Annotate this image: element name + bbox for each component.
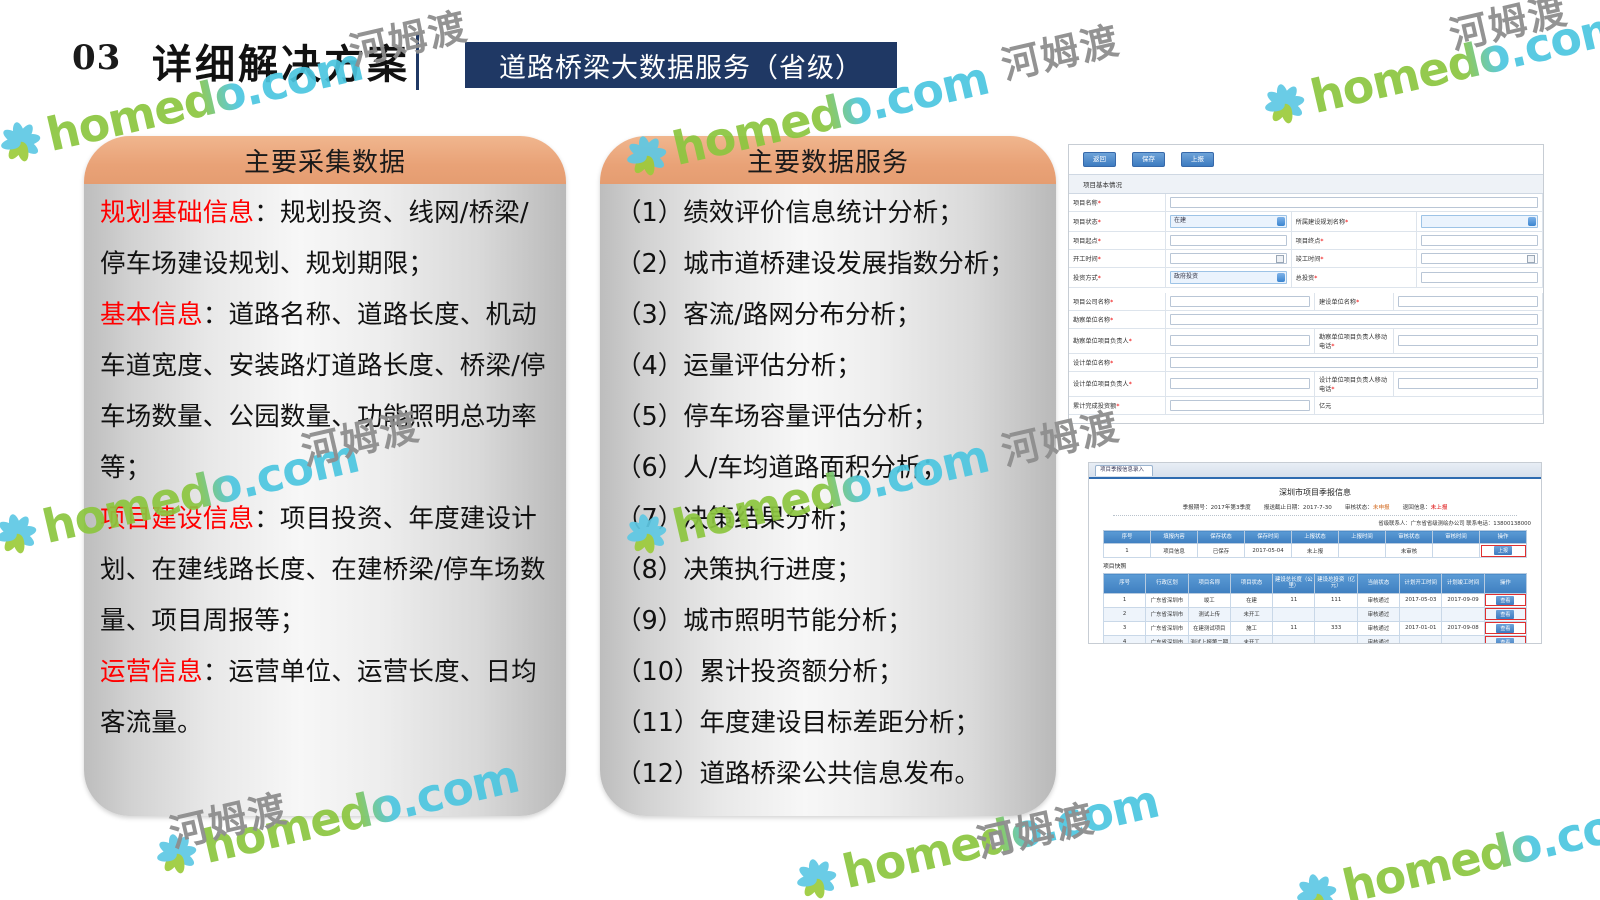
report-tabbar: 项目季报信息录入 (1089, 463, 1541, 479)
row-action-cell[interactable]: 查看 (1484, 621, 1526, 635)
collect-paragraph: 项目建设信息：项目投资、年度建设计划、在建线路长度、在建桥梁/停车场数量、项目周… (100, 494, 550, 647)
table-cell: 在建测试项目 (1188, 621, 1230, 635)
form-row: 项目起点*项目终点* (1069, 231, 1543, 249)
collect-paragraph: 规划基础信息：规划投资、线网/桥梁/停车场建设规划、规划期限； (100, 188, 550, 290)
column-header: 计划开工时间 (1400, 574, 1442, 593)
text-field[interactable] (1170, 314, 1538, 325)
report-meta-item: 季报期号：2017年第3季度 (1183, 503, 1251, 511)
report-meta-value: 2017-7-30 (1303, 505, 1332, 511)
page-title: 详细解决方案 (152, 32, 410, 90)
text-field[interactable] (1398, 335, 1538, 346)
watermark-homedo: homedo.com (1289, 789, 1600, 900)
tab-report-entry[interactable]: 项目季报信息录入 (1095, 465, 1153, 476)
table-cell: 审核通过 (1357, 607, 1399, 621)
panel-main-collected-data: 主要采集数据 规划基础信息：规划投资、线网/桥梁/停车场建设规划、规划期限； 基… (84, 136, 566, 816)
form-row: 勘察单位项目负责人*勘察单位项目负责人移动电话* (1069, 328, 1543, 353)
report-contact: 省级联系人：广东省省级测绘办公司 联系电话：13800138000 (1089, 516, 1541, 530)
table-cell (1273, 607, 1315, 621)
form-table-basic: 项目名称*项目状态*在建所属建设规划名称*项目起点*项目终点*开工时间*竣工时间… (1069, 194, 1543, 288)
slide-canvas: 03 详细解决方案 道路桥梁大数据服务（省级） 主要采集数据 规划基础信息：规划… (0, 0, 1600, 900)
service-list-item: （6）人/车均道路面积分析； (616, 443, 1040, 494)
column-header: 上报状态 (1292, 531, 1339, 544)
report-meta-value: 未上报 (1431, 505, 1448, 511)
service-list-item: （1）绩效评价信息统计分析； (616, 188, 1040, 239)
column-header: 序号 (1104, 531, 1151, 544)
text-field[interactable] (1170, 296, 1310, 307)
column-header: 项目状态 (1230, 574, 1272, 593)
form-row: 投资方式*政府投资总投资* (1069, 267, 1543, 287)
table-cell: 审核通过 (1357, 593, 1399, 607)
table-cell (1442, 635, 1484, 644)
field-label: 投资方式* (1069, 267, 1166, 287)
table-cell: 广东省深圳市 (1146, 593, 1188, 607)
table-cell: 2017-09-08 (1442, 621, 1484, 635)
table-cell (1442, 607, 1484, 621)
table-cell (1339, 544, 1386, 558)
column-header: 操作 (1480, 531, 1527, 544)
table-cell: 施工 (1230, 621, 1272, 635)
column-header: 保存时间 (1245, 531, 1292, 544)
report-meta-value: 未申报 (1373, 505, 1390, 511)
table-cell: 测试上传 (1188, 607, 1230, 621)
collect-label: 规划基础信息 (100, 198, 254, 228)
text-field[interactable] (1170, 378, 1310, 389)
table-cell: 11 (1273, 621, 1315, 635)
table-row: 4广东省深圳市测试上报第二期未开工审核通过查看 (1104, 635, 1527, 644)
flower-logo-icon (150, 828, 203, 881)
report-meta-item: 报送截止日期：2017-7-30 (1264, 503, 1332, 511)
service-list-item: （2）城市道桥建设发展指数分析； (616, 239, 1040, 290)
row-action-button[interactable]: 查看 (1496, 596, 1514, 605)
table-cell: 1 (1104, 593, 1146, 607)
section-number: 03 (72, 38, 121, 78)
service-list-item: （5）停车场容量评估分析； (616, 392, 1040, 443)
report-subtitle: 项目快照 (1089, 558, 1541, 573)
service-list-item: （12）道路桥梁公共信息发布。 (616, 749, 1040, 800)
form-row: 项目名称* (1069, 194, 1543, 212)
table-cell: 未开工 (1230, 635, 1272, 644)
report-meta-key: 审核状态： (1345, 505, 1373, 511)
column-header: 当前状态 (1357, 574, 1399, 593)
table-cell: 333 (1315, 621, 1357, 635)
row-action-button[interactable]: 查看 (1496, 638, 1514, 644)
field-label: 勘察单位项目负责人移动电话* (1315, 328, 1394, 353)
table-cell: 4 (1104, 635, 1146, 644)
report-table-content: 序号填报内容保存状态保存时间上报状态上报时间审核状态审核时间操作1项目信息已保存… (1103, 530, 1527, 558)
table-cell (1400, 607, 1442, 621)
field-label: 竣工时间* (1291, 249, 1417, 267)
table-cell: 111 (1315, 593, 1357, 607)
form-section-title: 项目基本情况 (1069, 174, 1543, 194)
table-row: 2广东省深圳市测试上传未开工审核通过查看 (1104, 607, 1527, 621)
field-label: 建设单位名称* (1315, 293, 1394, 311)
screenshot-project-form: 返回 保存 上报 项目基本情况 项目名称*项目状态*在建所属建设规划名称*项目起… (1068, 144, 1544, 424)
date-field[interactable] (1170, 253, 1287, 264)
collect-label: 基本信息 (100, 300, 203, 330)
table-cell: 2017-05-03 (1400, 593, 1442, 607)
header-divider (416, 34, 419, 90)
collect-paragraph: 基本信息：道路名称、道路长度、机动车道宽度、安装路灯道路长度、桥梁/停车场数量、… (100, 290, 550, 494)
table-header-row: 序号行政区划项目名称项目状态建设总长度（公里）建设总投资（亿元）当前状态计划开工… (1104, 574, 1527, 593)
flower-logo-icon (790, 853, 843, 900)
text-field[interactable] (1170, 400, 1310, 411)
table-cell: 在建 (1230, 593, 1272, 607)
row-action-cell[interactable]: 查看 (1484, 607, 1526, 621)
row-action-cell[interactable]: 查看 (1484, 593, 1526, 607)
table-cell: 1 (1104, 544, 1151, 558)
service-list-item: （4）运量评估分析； (616, 341, 1040, 392)
row-action-button[interactable]: 查看 (1496, 624, 1514, 633)
service-list-item: （9）城市照明节能分析； (616, 596, 1040, 647)
submit-button[interactable]: 上报 (1181, 152, 1214, 167)
column-header: 项目名称 (1188, 574, 1230, 593)
table-cell: 广东省深圳市 (1146, 635, 1188, 644)
field-label: 设计单位名称* (1069, 353, 1166, 371)
panel-service-body: （1）绩效评价信息统计分析；（2）城市道桥建设发展指数分析；（3）客流/路网分布… (600, 184, 1056, 816)
form-row: 项目状态*在建所属建设规划名称* (1069, 211, 1543, 231)
table-row: 3广东省深圳市在建测试项目施工11333审核通过2017-01-012017-0… (1104, 621, 1527, 635)
panel-collect-body: 规划基础信息：规划投资、线网/桥梁/停车场建设规划、规划期限； 基本信息：道路名… (84, 184, 566, 816)
table-cell: 未上报 (1292, 544, 1339, 558)
text-field[interactable] (1421, 272, 1538, 283)
watermark-cn: 河姆渡 (995, 9, 1124, 90)
column-header: 行政区划 (1146, 574, 1188, 593)
row-action-button[interactable]: 查看 (1496, 610, 1514, 619)
field-label: 设计单位项目负责人移动电话* (1315, 371, 1394, 396)
back-button[interactable]: 返回 (1083, 152, 1116, 167)
panel-service-heading: 主要数据服务 (600, 136, 1056, 184)
field-label: 所属建设规划名称* (1291, 211, 1417, 231)
report-meta-item: 审核状态：未申报 (1345, 503, 1390, 511)
service-list-item: （7）决策结果分析； (616, 494, 1040, 545)
text-field[interactable] (1398, 296, 1538, 307)
table-row: 1项目信息已保存2017-05-04未上报未审核上报 (1104, 544, 1527, 558)
table-cell: 广东省深圳市 (1146, 607, 1188, 621)
service-list-item: （3）客流/路网分布分析； (616, 290, 1040, 341)
report-table-projects: 序号行政区划项目名称项目状态建设总长度（公里）建设总投资（亿元）当前状态计划开工… (1103, 573, 1527, 644)
table-cell: 未开工 (1230, 607, 1272, 621)
column-header: 建设总长度（公里） (1273, 574, 1315, 593)
report-title: 深圳市项目季报信息 (1089, 487, 1541, 498)
field-label: 开工时间* (1069, 249, 1166, 267)
report-meta-item: 退回信息：未上报 (1403, 503, 1448, 511)
table-cell: 3 (1104, 621, 1146, 635)
form-row: 勘察单位名称* (1069, 310, 1543, 328)
table-cell: 11 (1273, 593, 1315, 607)
screenshot-quarterly-report: 项目季报信息录入 深圳市项目季报信息 季报期号：2017年第3季度报送截止日期：… (1088, 462, 1542, 644)
select-field[interactable] (1421, 215, 1538, 228)
table-cell: 2 (1104, 607, 1146, 621)
table-cell (1433, 544, 1480, 558)
table-cell (1315, 635, 1357, 644)
table-cell: 2017-09-09 (1442, 593, 1484, 607)
form-row: 设计单位项目负责人*设计单位项目负责人移动电话* (1069, 371, 1543, 396)
field-label: 项目公司名称* (1069, 293, 1166, 311)
select-field[interactable]: 在建 (1170, 215, 1287, 228)
table-cell: 2017-01-01 (1400, 621, 1442, 635)
field-label: 项目名称* (1069, 194, 1166, 212)
text-field[interactable] (1170, 197, 1538, 208)
flower-logo-icon (1258, 78, 1311, 131)
service-list-item: （8）决策执行进度； (616, 545, 1040, 596)
form-row: 项目公司名称*建设单位名称* (1069, 293, 1543, 311)
row-action-cell[interactable]: 查看 (1484, 635, 1526, 644)
field-label: 项目状态* (1069, 211, 1166, 231)
table-cell: 已保存 (1198, 544, 1245, 558)
column-header: 审核状态 (1386, 531, 1433, 544)
table-cell: 审核通过 (1357, 635, 1399, 644)
report-meta-key: 退回信息： (1403, 505, 1431, 511)
column-header: 序号 (1104, 574, 1146, 593)
report-meta-key: 季报期号： (1183, 505, 1211, 511)
field-label: 勘察单位名称* (1069, 310, 1166, 328)
collect-paragraph: 运营信息：运营单位、运营长度、日均客流量。 (100, 647, 550, 749)
report-meta: 季报期号：2017年第3季度报送截止日期：2017-7-30审核状态：未申报退回… (1113, 503, 1517, 516)
form-row: 累计完成投资额*亿元 (1069, 396, 1543, 414)
field-label: 设计单位项目负责人* (1069, 371, 1166, 396)
table-cell (1315, 607, 1357, 621)
column-header: 填报内容 (1151, 531, 1198, 544)
field-label: 总投资* (1291, 267, 1417, 287)
flower-logo-icon (0, 116, 47, 169)
text-field[interactable] (1170, 335, 1310, 346)
table-cell: 竣工 (1188, 593, 1230, 607)
table-cell: 未审核 (1386, 544, 1433, 558)
watermark-homedo: homedo.com (1257, 0, 1600, 135)
column-header: 审核时间 (1433, 531, 1480, 544)
flower-logo-icon (1290, 868, 1343, 900)
table-cell: 审核通过 (1357, 621, 1399, 635)
row-action-button[interactable]: 上报 (1494, 546, 1512, 555)
field-label: 勘察单位项目负责人* (1069, 328, 1166, 353)
column-header: 保存状态 (1198, 531, 1245, 544)
select-field[interactable]: 政府投资 (1170, 271, 1287, 284)
table-row: 1广东省深圳市竣工在建11111审核通过2017-05-032017-09-09… (1104, 593, 1527, 607)
column-header: 建设总投资（亿元） (1315, 574, 1357, 593)
collect-label: 运营信息 (100, 657, 203, 687)
table-cell: 测试上报第二期 (1188, 635, 1230, 644)
form-row: 开工时间*竣工时间* (1069, 249, 1543, 267)
text-field[interactable] (1398, 378, 1538, 389)
watermark-brand-text: homedo.com (1305, 0, 1600, 124)
table-cell (1400, 635, 1442, 644)
text-field[interactable] (1170, 235, 1287, 246)
save-button[interactable]: 保存 (1132, 152, 1165, 167)
field-label: 项目终点* (1291, 231, 1417, 249)
table-cell (1273, 635, 1315, 644)
table-header-row: 序号填报内容保存状态保存时间上报状态上报时间审核状态审核时间操作 (1104, 531, 1527, 544)
table-cell: 2017-05-04 (1245, 544, 1292, 558)
field-unit: 亿元 (1315, 396, 1543, 414)
form-table-units: 项目公司名称*建设单位名称*勘察单位名称*勘察单位项目负责人*勘察单位项目负责人… (1069, 293, 1543, 415)
text-field[interactable] (1421, 235, 1538, 246)
flower-logo-icon (0, 508, 43, 561)
watermark-brand-text: homedo.com (1337, 789, 1600, 900)
header-banner: 道路桥梁大数据服务（省级） (465, 42, 897, 88)
watermark-cn: 河姆渡 (1443, 0, 1572, 60)
form-row: 设计单位名称* (1069, 353, 1543, 371)
column-header: 上报时间 (1339, 531, 1386, 544)
column-header: 操作 (1484, 574, 1526, 593)
table-cell: 广东省深圳市 (1146, 621, 1188, 635)
column-header: 计划竣工时间 (1442, 574, 1484, 593)
form-toolbar: 返回 保存 上报 (1069, 145, 1543, 174)
field-label: 项目起点* (1069, 231, 1166, 249)
field-label: 累计完成投资额* (1069, 396, 1166, 414)
panel-main-data-services: 主要数据服务 （1）绩效评价信息统计分析；（2）城市道桥建设发展指数分析；（3）… (600, 136, 1056, 816)
panel-collect-heading: 主要采集数据 (84, 136, 566, 184)
service-list-item: （10）累计投资额分析； (616, 647, 1040, 698)
text-field[interactable] (1170, 357, 1538, 368)
report-meta-key: 报送截止日期： (1264, 505, 1303, 511)
service-list-item: （11）年度建设目标差距分析； (616, 698, 1040, 749)
report-meta-value: 2017年第3季度 (1211, 505, 1251, 511)
collect-label: 项目建设信息 (100, 504, 254, 534)
row-action-cell[interactable]: 上报 (1480, 544, 1527, 558)
table-cell: 项目信息 (1151, 544, 1198, 558)
date-field[interactable] (1421, 253, 1538, 264)
